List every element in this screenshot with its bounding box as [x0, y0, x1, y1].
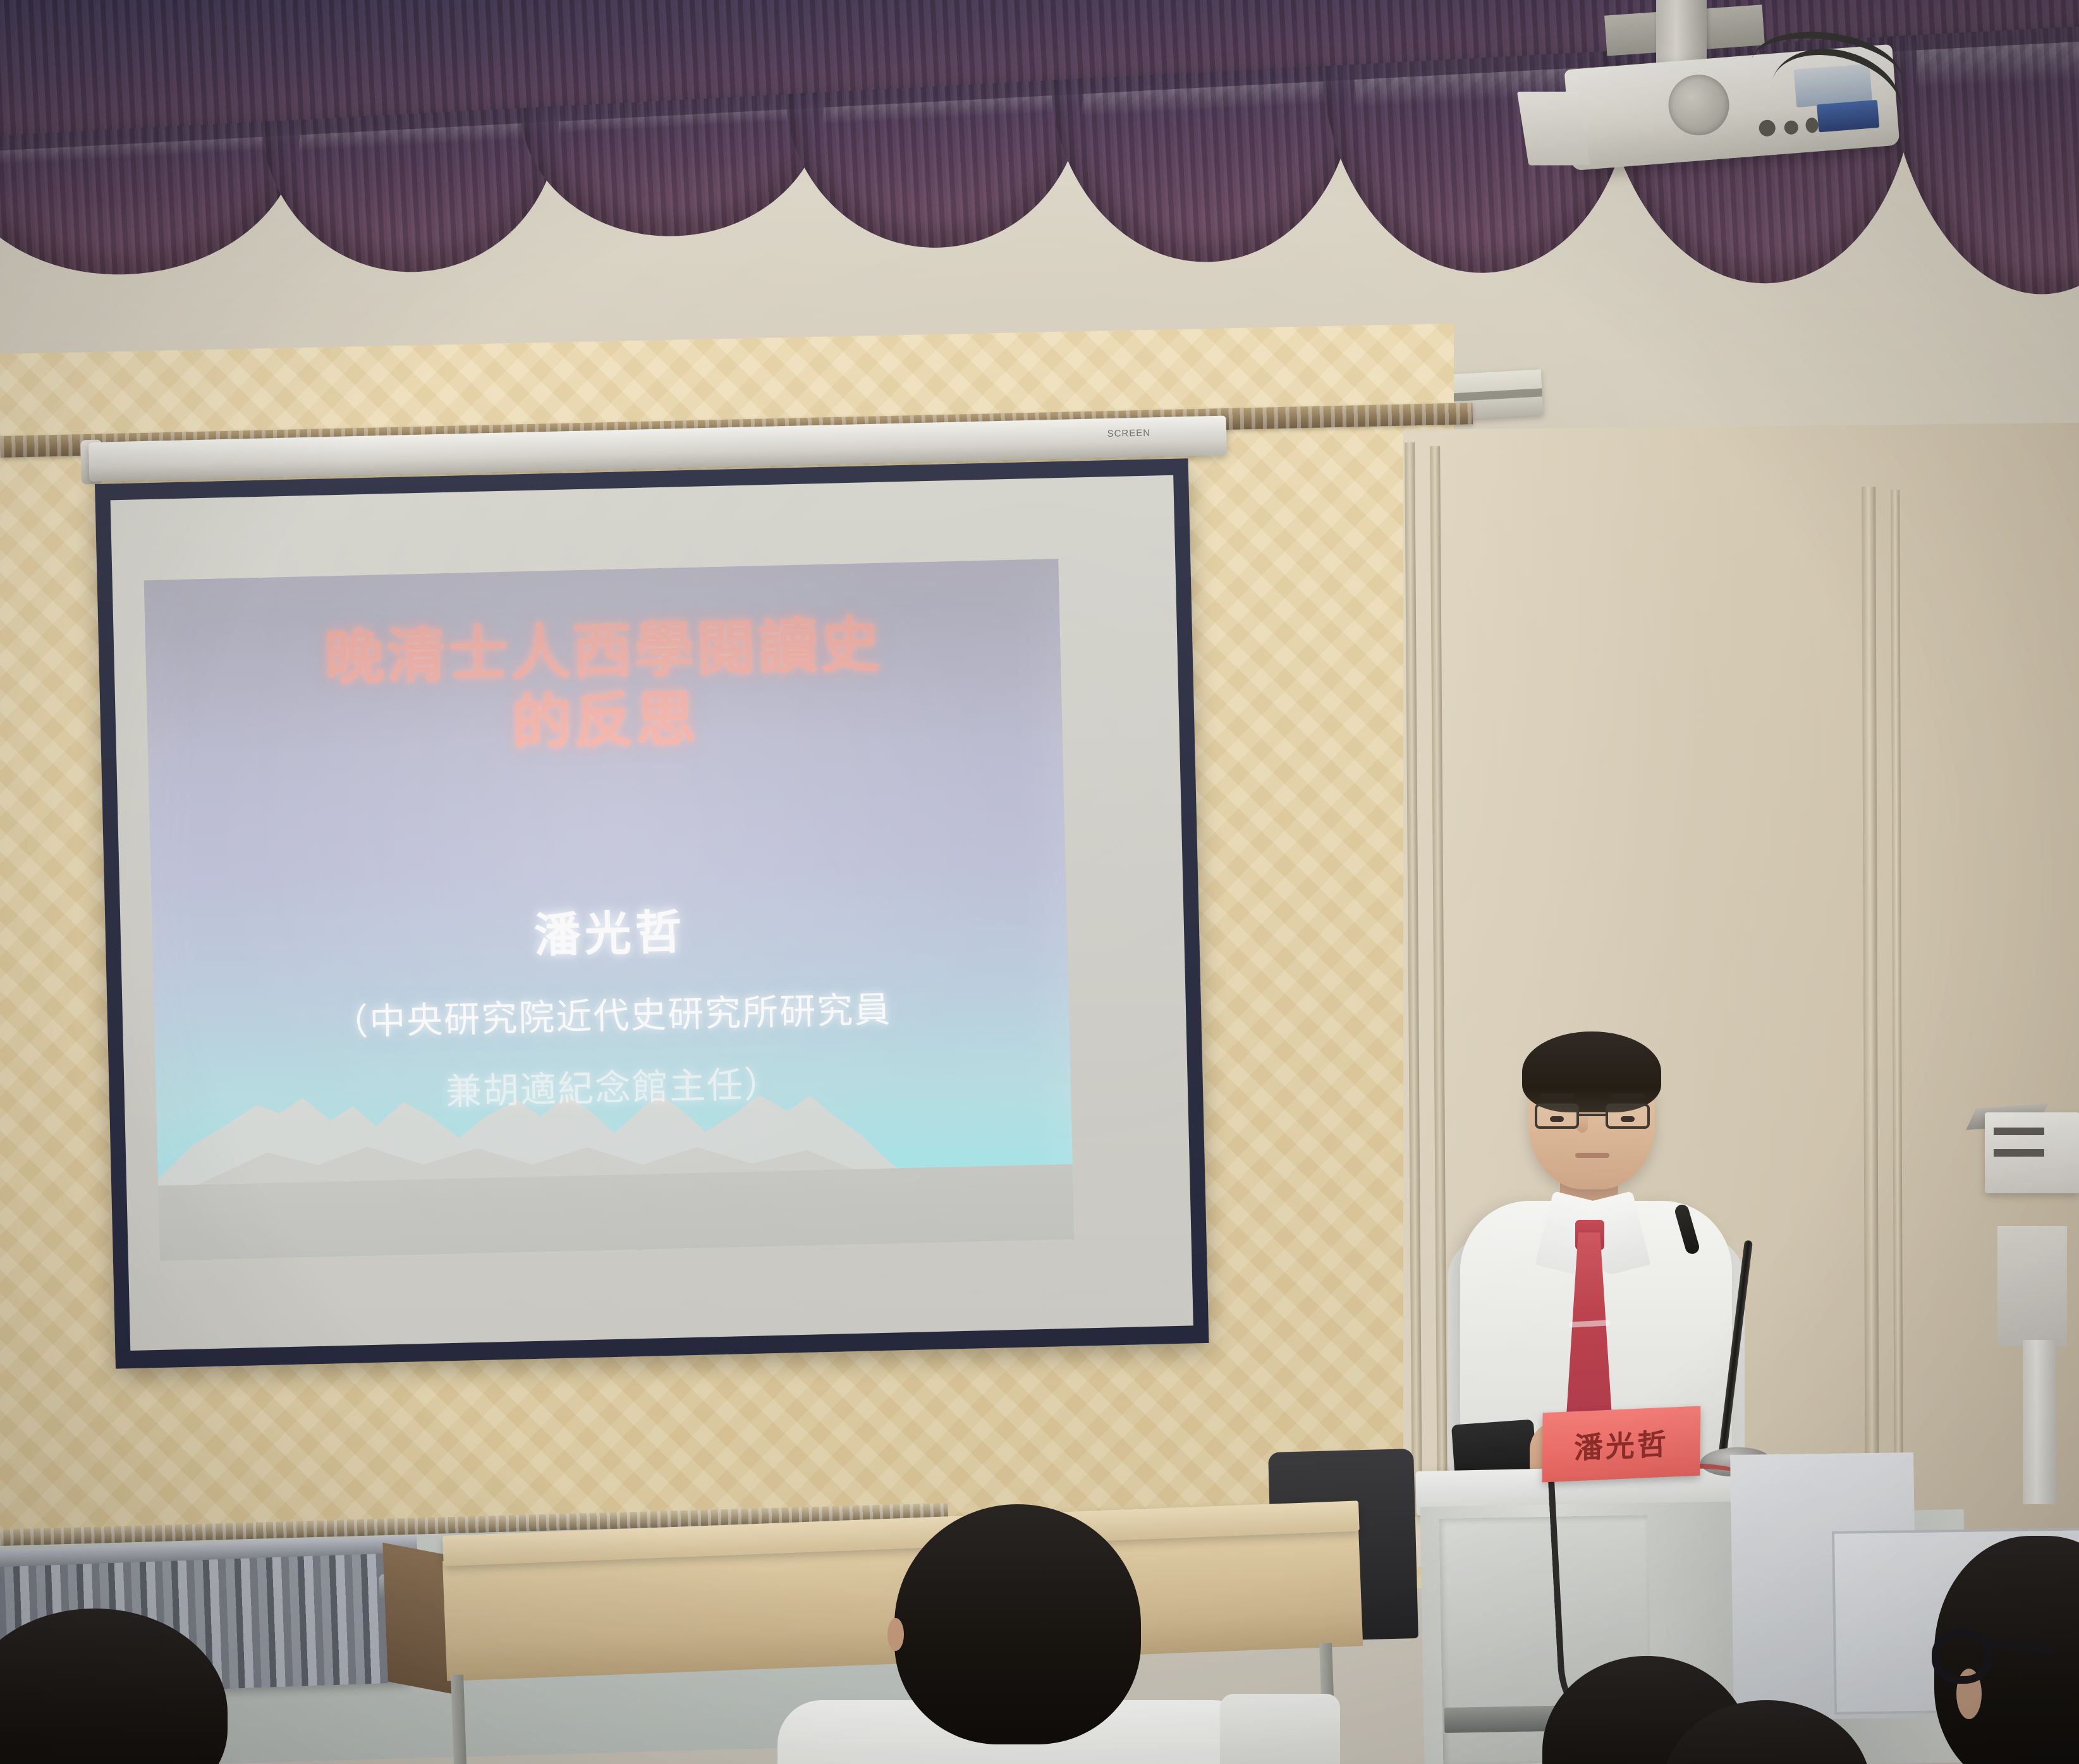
speaker-eyeglasses — [1535, 1104, 1650, 1129]
eyeglass-bridge — [1579, 1114, 1606, 1116]
speaker-nameplate: 潘光哲 — [1542, 1406, 1701, 1482]
speaker-eye-left — [1550, 1116, 1564, 1122]
projector-lens-shroud — [1517, 92, 1590, 166]
audience-ear — [887, 1618, 904, 1651]
projection-screen: 晚清士人西學閱讀史 的反思 潘光哲 （中央研究院近代史研究所研究員 兼胡適紀念館… — [95, 458, 1209, 1368]
wall-speaker-grille — [1994, 1149, 2044, 1157]
wall-speaker — [1985, 1112, 2079, 1193]
wall-pipe — [2023, 1340, 2057, 1504]
curtain-swag — [520, 92, 831, 244]
screen-brand-label: SCREEN — [1107, 427, 1150, 439]
speaker-eyebrow-left — [1540, 1093, 1574, 1098]
audience-head — [894, 1504, 1141, 1744]
curtain-swag — [1884, 21, 2079, 301]
presentation-slide: 晚清士人西學閱讀史 的反思 潘光哲 （中央研究院近代史研究所研究員 兼胡適紀念館… — [144, 559, 1074, 1261]
wall-speaker-grille — [1994, 1128, 2044, 1135]
projector-port — [1759, 119, 1776, 137]
eyeglass-lens-left — [1535, 1104, 1579, 1129]
curtain-swag — [786, 79, 1091, 255]
speaker-eyebrow-right — [1611, 1093, 1645, 1098]
audience-eyeglasses — [1932, 1629, 1992, 1684]
curtain-swag — [262, 106, 566, 279]
slide-title: 晚清士人西學閱讀史 的反思 — [145, 606, 1063, 767]
eyeglass-lens-right — [1606, 1104, 1650, 1129]
lecture-hall-photo: SCREEN 晚清士人西學閱讀史 的反思 潘光哲 （中央研究院近代史研究所研究員… — [0, 0, 2079, 1764]
projector-lens — [1666, 72, 1731, 137]
curtain-swag — [0, 119, 307, 283]
speaker-mouth — [1575, 1153, 1609, 1158]
slide-affiliation: （中央研究院近代史研究所研究員 兼胡適紀念館主任） — [154, 970, 1071, 1136]
speaker-eye-right — [1621, 1116, 1635, 1122]
speaker-hair — [1522, 1031, 1661, 1112]
curtain-swag — [1051, 64, 1363, 270]
nameplate-text: 潘光哲 — [1574, 1421, 1669, 1468]
white-bag — [1220, 1694, 1340, 1764]
wall-conduit-box — [1997, 1226, 2067, 1346]
slide-author: 潘光哲 — [152, 885, 1068, 975]
screen-surface: 晚清士人西學閱讀史 的反思 潘光哲 （中央研究院近代史研究所研究員 兼胡適紀念館… — [111, 475, 1193, 1351]
